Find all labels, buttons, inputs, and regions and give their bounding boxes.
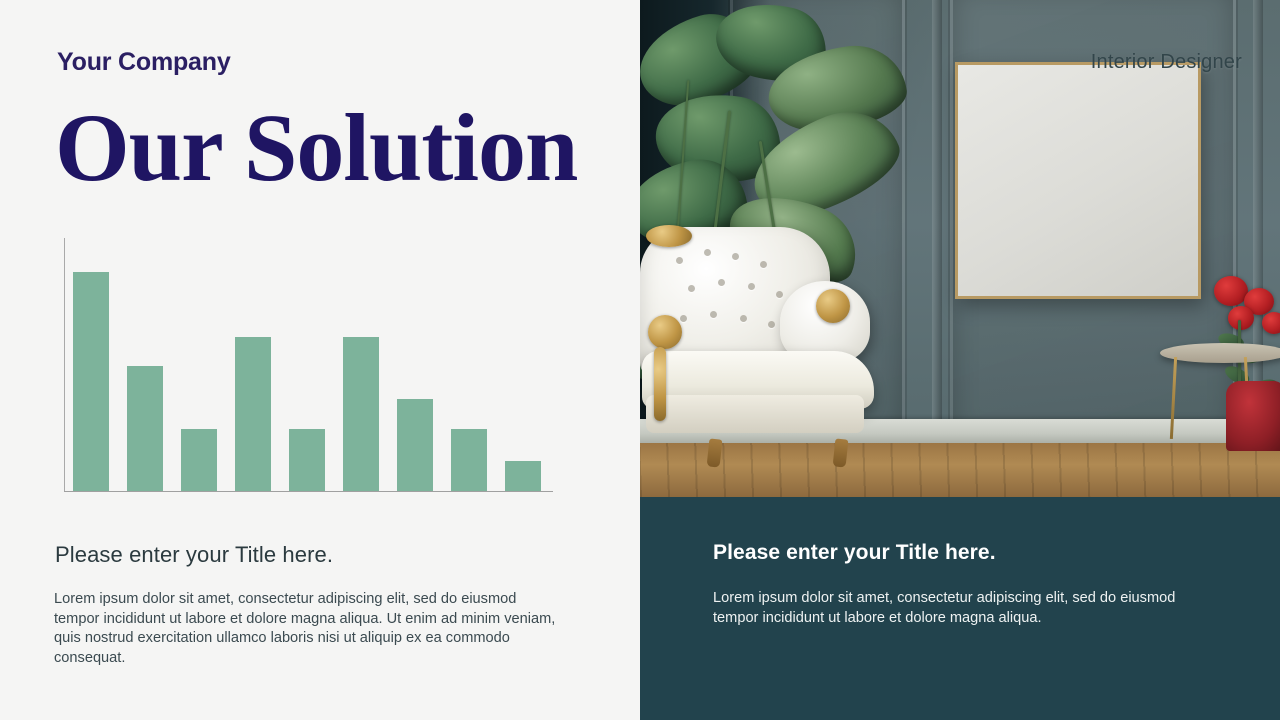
chart-bar: [127, 366, 163, 491]
bar-chart: [57, 238, 557, 496]
chart-bar: [181, 429, 217, 491]
wood-floor: [640, 443, 1280, 497]
chart-plot-area: [64, 242, 553, 491]
left-subtitle: Please enter your Title here.: [55, 542, 333, 568]
side-table-leg-left: [1170, 357, 1177, 439]
chart-bar: [343, 337, 379, 491]
chart-bar: [235, 337, 271, 491]
framed-canvas: [955, 62, 1201, 299]
right-dark-panel: Please enter your Title here. Lorem ipsu…: [640, 497, 1280, 720]
image-caption: Interior Designer: [1091, 51, 1242, 74]
side-table-top: [1160, 343, 1280, 363]
chart-bar: [451, 429, 487, 491]
gold-carving-left-arm: [648, 315, 682, 349]
gold-carving-crest: [646, 225, 692, 247]
right-body-text: Lorem ipsum dolor sit amet, consectetur …: [713, 589, 1221, 629]
page-title: Our Solution: [55, 100, 577, 196]
chart-bar: [73, 272, 109, 491]
armchair-skirt: [646, 395, 864, 433]
chart-bar: [397, 399, 433, 491]
company-name: Your Company: [57, 48, 231, 77]
interior-photo: Interior Designer: [640, 0, 1280, 497]
red-armchair: [1226, 381, 1280, 451]
left-panel: Your Company Our Solution Please enter y…: [0, 0, 640, 720]
armchair: [640, 219, 880, 449]
gold-carving-right-arm: [816, 289, 850, 323]
right-subtitle: Please enter your Title here.: [713, 541, 996, 565]
chart-bar: [505, 461, 541, 491]
slide-root: Your Company Our Solution Please enter y…: [0, 0, 1280, 720]
gold-leg-front: [654, 347, 666, 421]
left-body-text: Lorem ipsum dolor sit amet, consectetur …: [54, 590, 564, 668]
chart-bar: [289, 429, 325, 491]
